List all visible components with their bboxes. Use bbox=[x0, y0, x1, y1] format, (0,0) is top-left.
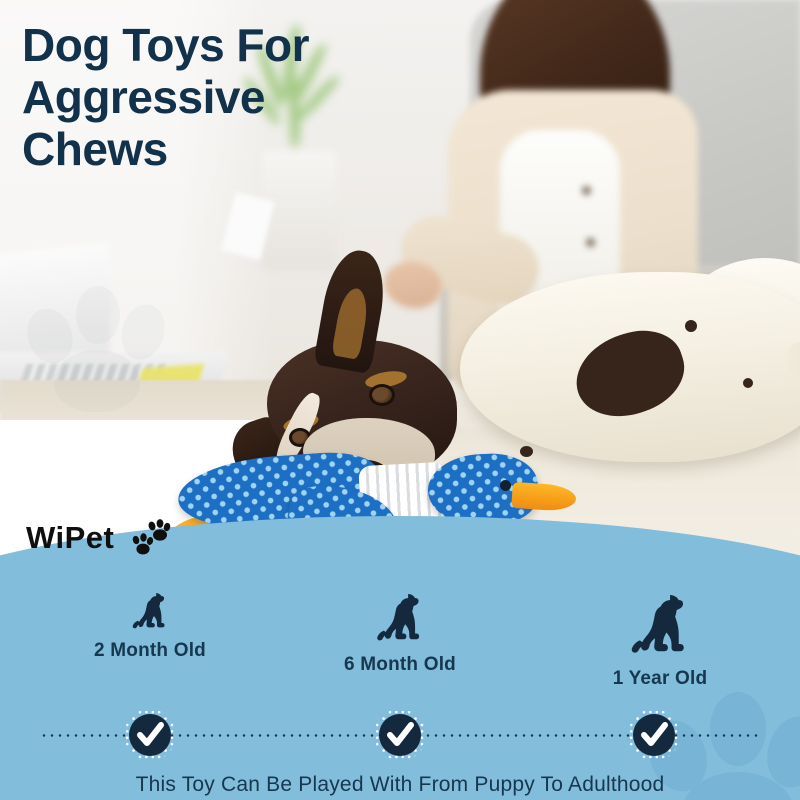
product-image-canvas: 2 Month Old 6 Month Old 1 Year Old bbox=[0, 0, 800, 800]
toy-eye bbox=[500, 480, 511, 491]
paw-watermark-icon bbox=[18, 246, 168, 396]
headline-line-2: Aggressive bbox=[22, 72, 452, 124]
page-title: Dog Toys For Aggressive Chews bbox=[22, 20, 452, 176]
headline-line-3: Chews bbox=[22, 124, 452, 176]
age-stage-1-year: 1 Year Old bbox=[550, 590, 770, 690]
check-mark-icon bbox=[633, 714, 675, 756]
headline-line-1: Dog Toys For bbox=[22, 20, 452, 72]
checkmark-badge-2-month bbox=[124, 709, 176, 761]
check-mark-icon bbox=[379, 714, 421, 756]
checkmark-badge-6-month bbox=[374, 709, 426, 761]
age-stage-list: 2 Month Old 6 Month Old 1 Year Old bbox=[0, 590, 800, 710]
brand-name: WiPet bbox=[26, 520, 114, 556]
age-stage-label: 2 Month Old bbox=[40, 640, 260, 662]
check-mark-icon bbox=[129, 714, 171, 756]
age-stage-label: 6 Month Old bbox=[290, 654, 510, 676]
sitting-dog-icon bbox=[128, 590, 172, 634]
sitting-dog-icon bbox=[624, 590, 696, 662]
dog-coat-spot bbox=[743, 378, 753, 388]
brand-logo: WiPet bbox=[26, 518, 174, 558]
age-stage-2-month: 2 Month Old bbox=[40, 590, 260, 662]
paw-print-icon bbox=[126, 518, 174, 558]
dog-coat-spot bbox=[685, 320, 697, 332]
button bbox=[582, 186, 591, 195]
dog-eye bbox=[369, 384, 395, 406]
age-timeline bbox=[0, 705, 800, 765]
checkmark-badge-1-year bbox=[628, 709, 680, 761]
tagline: This Toy Can Be Played With From Puppy T… bbox=[0, 773, 800, 797]
button bbox=[586, 238, 595, 247]
age-suitability-panel: 2 Month Old 6 Month Old 1 Year Old bbox=[0, 560, 800, 800]
sitting-dog-icon bbox=[371, 590, 429, 648]
age-stage-label: 1 Year Old bbox=[550, 668, 770, 690]
age-stage-6-month: 6 Month Old bbox=[290, 590, 510, 676]
